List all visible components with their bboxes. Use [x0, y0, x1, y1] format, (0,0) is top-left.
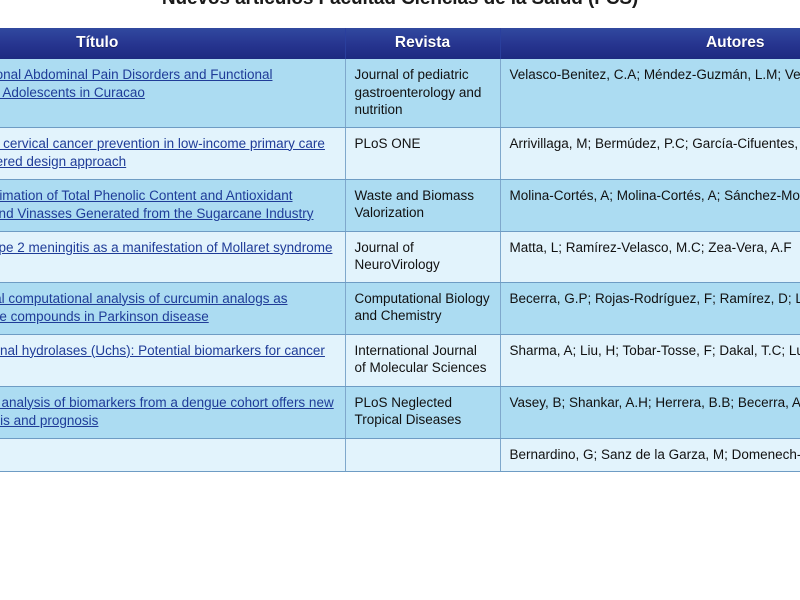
page-title: Nuevos artículos Facultad Ciencias de la…	[0, 0, 800, 12]
cell-titulo	[0, 438, 345, 472]
table-row: Multivariate time-series analysis of bio…	[0, 386, 800, 438]
cell-revista: PLoS Neglected Tropical Diseases	[345, 386, 500, 438]
cell-autores: Molina-Cortés, A; Molina-Cortés, A; Sánc…	[500, 179, 800, 231]
cell-revista: Journal of pediatric gastroenterology an…	[345, 59, 500, 127]
cell-autores: Sharma, A; Liu, H; Tobar-Tosse, F; Dakal…	[500, 334, 800, 386]
cell-titulo: Spectrophotometric Estimation of Total P…	[0, 179, 345, 231]
table-row: Ubiquitin carboxyl-terminal hydrolases (…	[0, 334, 800, 386]
cell-autores: Velasco-Benitez, C.A; Méndez-Guzmán, L.M…	[500, 59, 800, 127]
cell-revista: Waste and Biomass Valorization	[345, 179, 500, 231]
article-title-link[interactable]: Ubiquitin carboxyl-terminal hydrolases (…	[0, 343, 325, 376]
table-scroll-area[interactable]: Título Revista Autores Epidemiology of F…	[0, 28, 800, 600]
table-row: Self-care prototypes for cervical cancer…	[0, 127, 800, 179]
article-title-link[interactable]: Herpes simplex virus type 2 meningitis a…	[0, 240, 332, 255]
cell-revista	[345, 438, 500, 472]
table-body: Epidemiology of Functional Abdominal Pai…	[0, 59, 800, 472]
cell-revista: Computational Biology and Chemistry	[345, 282, 500, 334]
table-header: Título Revista Autores	[0, 28, 800, 59]
article-title-link[interactable]: Spectrophotometric Estimation of Total P…	[0, 188, 314, 221]
cell-autores: Arrivillaga, M; Bermúdez, P.C; García-Ci…	[500, 127, 800, 179]
cell-titulo: Structural and functional computational …	[0, 282, 345, 334]
cell-revista: PLoS ONE	[345, 127, 500, 179]
table-row: Spectrophotometric Estimation of Total P…	[0, 179, 800, 231]
column-header-autores[interactable]: Autores	[500, 28, 800, 59]
cell-autores: Becerra, G.P; Rojas-Rodríguez, F; Ramíre…	[500, 282, 800, 334]
cell-titulo: Epidemiology of Functional Abdominal Pai…	[0, 59, 345, 127]
table-header-row: Título Revista Autores	[0, 28, 800, 59]
column-header-titulo[interactable]: Título	[0, 28, 345, 59]
table-row: Epidemiology of Functional Abdominal Pai…	[0, 59, 800, 127]
page-title-container: Nuevos artículos Facultad Ciencias de la…	[0, 0, 800, 14]
table-row: Herpes simplex virus type 2 meningitis a…	[0, 231, 800, 282]
cell-autores: Vasey, B; Shankar, A.H; Herrera, B.B; Be…	[500, 386, 800, 438]
cell-titulo: Multivariate time-series analysis of bio…	[0, 386, 345, 438]
article-title-link[interactable]: Self-care prototypes for cervical cancer…	[0, 136, 325, 169]
cell-revista: Journal of NeuroVirology	[345, 231, 500, 282]
article-title-link[interactable]: Multivariate time-series analysis of bio…	[0, 395, 334, 428]
page-root: Nuevos artículos Facultad Ciencias de la…	[0, 0, 800, 600]
cell-revista: International Journal of Molecular Scien…	[345, 334, 500, 386]
article-title-link[interactable]: Structural and functional computational …	[0, 291, 288, 324]
column-header-revista[interactable]: Revista	[345, 28, 500, 59]
article-title-link[interactable]: Epidemiology of Functional Abdominal Pai…	[0, 67, 272, 100]
articles-table: Título Revista Autores Epidemiology of F…	[0, 28, 800, 472]
table-row: Structural and functional computational …	[0, 282, 800, 334]
table-row: Bernardino, G; Sanz de la Garza, M; Dome…	[0, 438, 800, 472]
cell-titulo: Herpes simplex virus type 2 meningitis a…	[0, 231, 345, 282]
cell-titulo: Self-care prototypes for cervical cancer…	[0, 127, 345, 179]
cell-autores: Matta, L; Ramírez-Velasco, M.C; Zea-Vera…	[500, 231, 800, 282]
cell-autores: Bernardino, G; Sanz de la Garza, M; Dome…	[500, 438, 800, 472]
cell-titulo: Ubiquitin carboxyl-terminal hydrolases (…	[0, 334, 345, 386]
